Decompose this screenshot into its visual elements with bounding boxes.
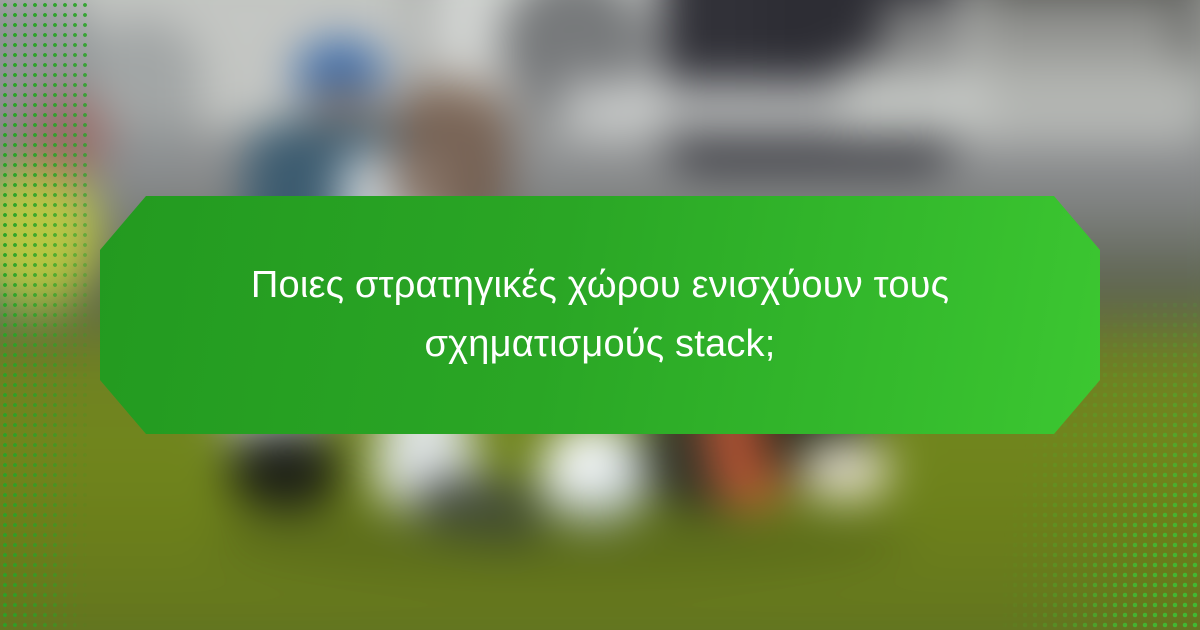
blob-bench-upper (880, 0, 1180, 70)
question-banner: Ποιες στρατηγικές χώρου ενισχύουν τους σ… (100, 196, 1100, 434)
blob-bench (840, 60, 1200, 140)
social-share-card: Ποιες στρατηγικές χώρου ενισχύουν τους σ… (0, 0, 1200, 630)
blob-boot-left (230, 430, 340, 510)
question-title: Ποιες στρατηγικές χώρου ενισχύουν τους σ… (220, 256, 980, 374)
blob-ground-shadow (210, 505, 910, 575)
blob-red-figure (20, 90, 110, 180)
blob-boot-white (800, 440, 890, 500)
